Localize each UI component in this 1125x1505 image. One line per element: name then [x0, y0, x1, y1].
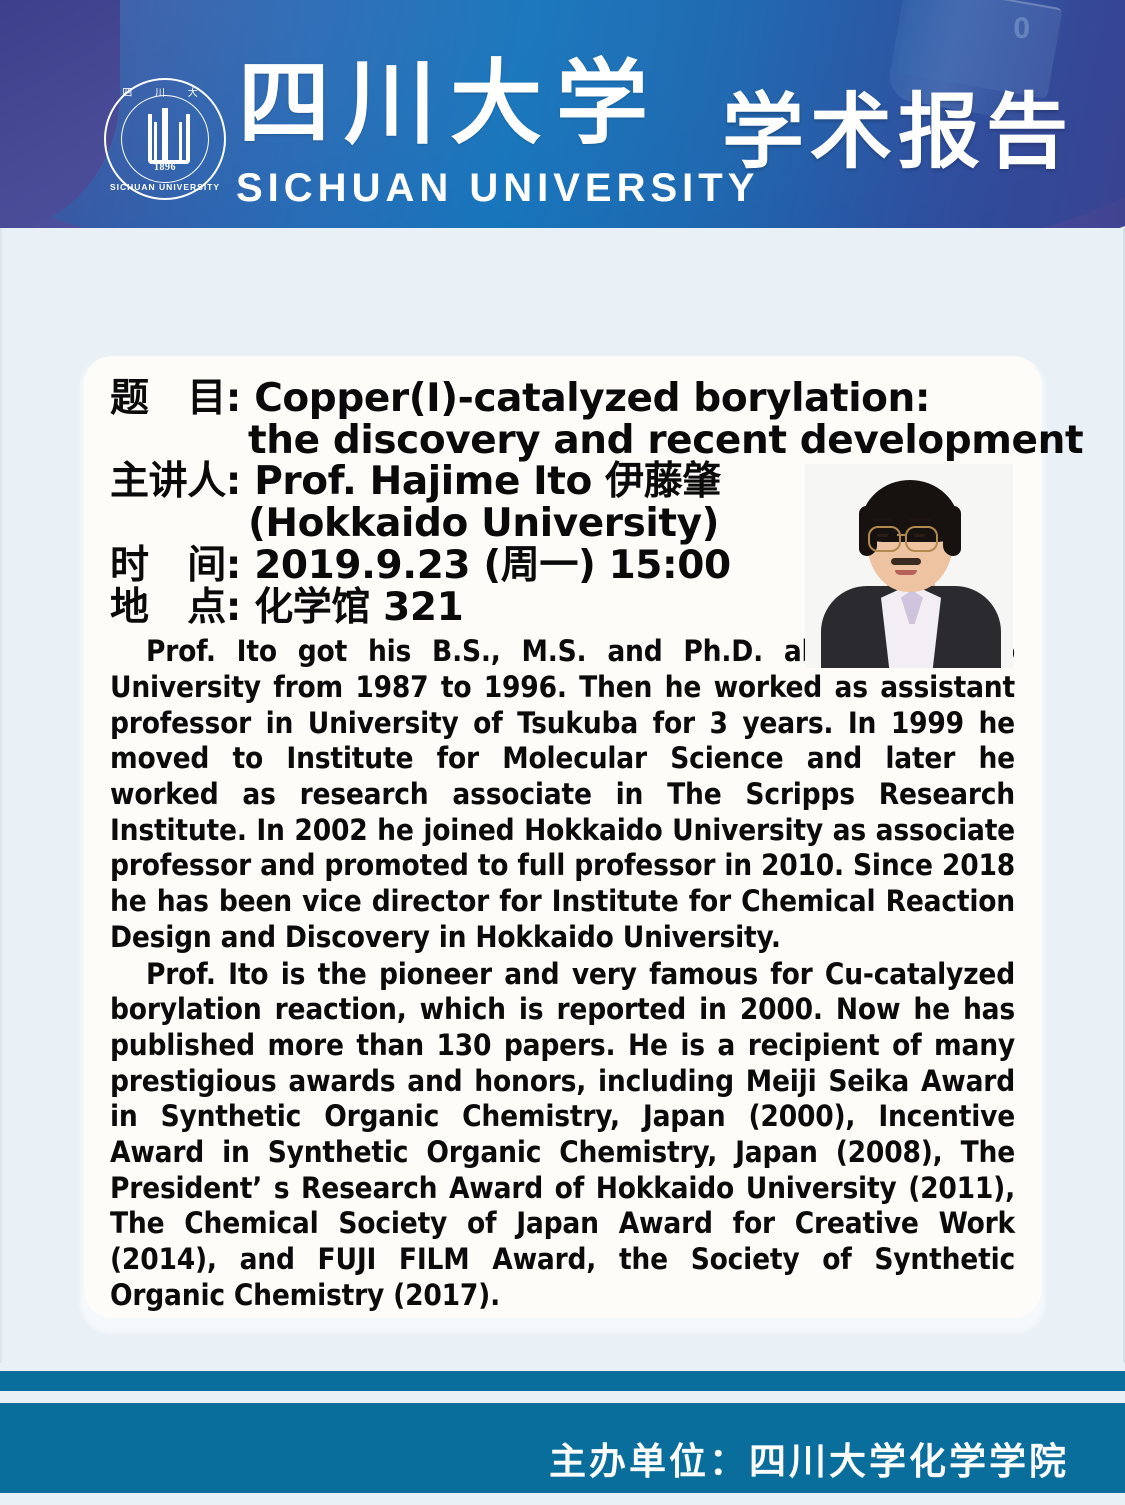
- place-label: 地 点:: [110, 585, 241, 630]
- speaker-portrait-photo: [805, 464, 1013, 668]
- portrait-eye-right: [914, 534, 925, 537]
- speaker-biography: Prof. Ito got his B.S., M.S. and Ph.D. a…: [110, 634, 1015, 1313]
- poster-footer: 主办单位：四川大学化学学院: [0, 1363, 1125, 1505]
- portrait-mouth: [895, 570, 917, 575]
- sichuan-university-seal-logo: 四 川 大 1896 SICHUAN UNIVERSITY: [104, 78, 226, 200]
- bio-paragraph-2: Prof. Ito is the pioneer and very famous…: [110, 957, 1015, 1314]
- seminar-poster: 50 0 四 川 大 1896 SICHUAN UNIVERSITY 四川大学 …: [0, 0, 1125, 1505]
- portrait-glasses-right-lens-icon: [905, 526, 938, 552]
- seal-building-emblem-icon: [141, 108, 189, 164]
- artwork-ring: 0: [1013, 12, 1030, 46]
- brand-name-chinese: 四川大学: [238, 58, 662, 150]
- speaker-name: Prof. Hajime Ito 伊藤肇: [254, 459, 721, 504]
- portrait-glasses-left-lens-icon: [868, 526, 901, 552]
- brand-name-english: SICHUAN UNIVERSITY: [236, 168, 759, 208]
- portrait-eyebrow-right: [909, 518, 931, 522]
- seal-year: 1896: [104, 162, 226, 173]
- time-value: 2019.9.23 (周一) 15:00: [254, 543, 731, 588]
- header-tagline-academic-report: 学术报告: [722, 92, 1074, 174]
- speaker-label: 主讲人:: [110, 459, 241, 504]
- seal-pillars: [154, 122, 182, 160]
- portrait-eyebrow-left: [871, 518, 893, 522]
- place-value: 化学馆 321: [254, 585, 463, 630]
- page-left-edge: [0, 228, 2, 1363]
- portrait-moustache: [891, 558, 921, 565]
- footer-band-top: [0, 1371, 1125, 1391]
- seminar-info-card: 题 目: Copper(I)-catalyzed borylation: the…: [84, 356, 1041, 1318]
- artwork-number: 50: [957, 0, 1013, 8]
- portrait-glasses-bridge: [897, 534, 905, 536]
- title-row: 题 目: Copper(I)-catalyzed borylation:: [110, 378, 1015, 420]
- portrait-eye-left: [877, 534, 888, 537]
- title-text-line1: Copper(I)-catalyzed borylation:: [254, 376, 930, 421]
- seal-arc-text: SICHUAN UNIVERSITY: [104, 182, 226, 192]
- time-label: 时 间:: [110, 543, 241, 588]
- poster-body: 题 目: Copper(I)-catalyzed borylation: the…: [0, 228, 1125, 1363]
- seal-top-marks: 四 川 大: [104, 84, 226, 99]
- footer-organizer-text: 主办单位：四川大学化学学院: [549, 1431, 1069, 1485]
- title-text-line2: the discovery and recent development: [110, 420, 1015, 462]
- portrait-hair-right: [943, 506, 961, 556]
- bio-paragraph-1: Prof. Ito got his B.S., M.S. and Ph.D. a…: [110, 634, 1015, 955]
- title-label: 题 目:: [110, 376, 241, 421]
- footer-band-gap: [0, 1391, 1125, 1403]
